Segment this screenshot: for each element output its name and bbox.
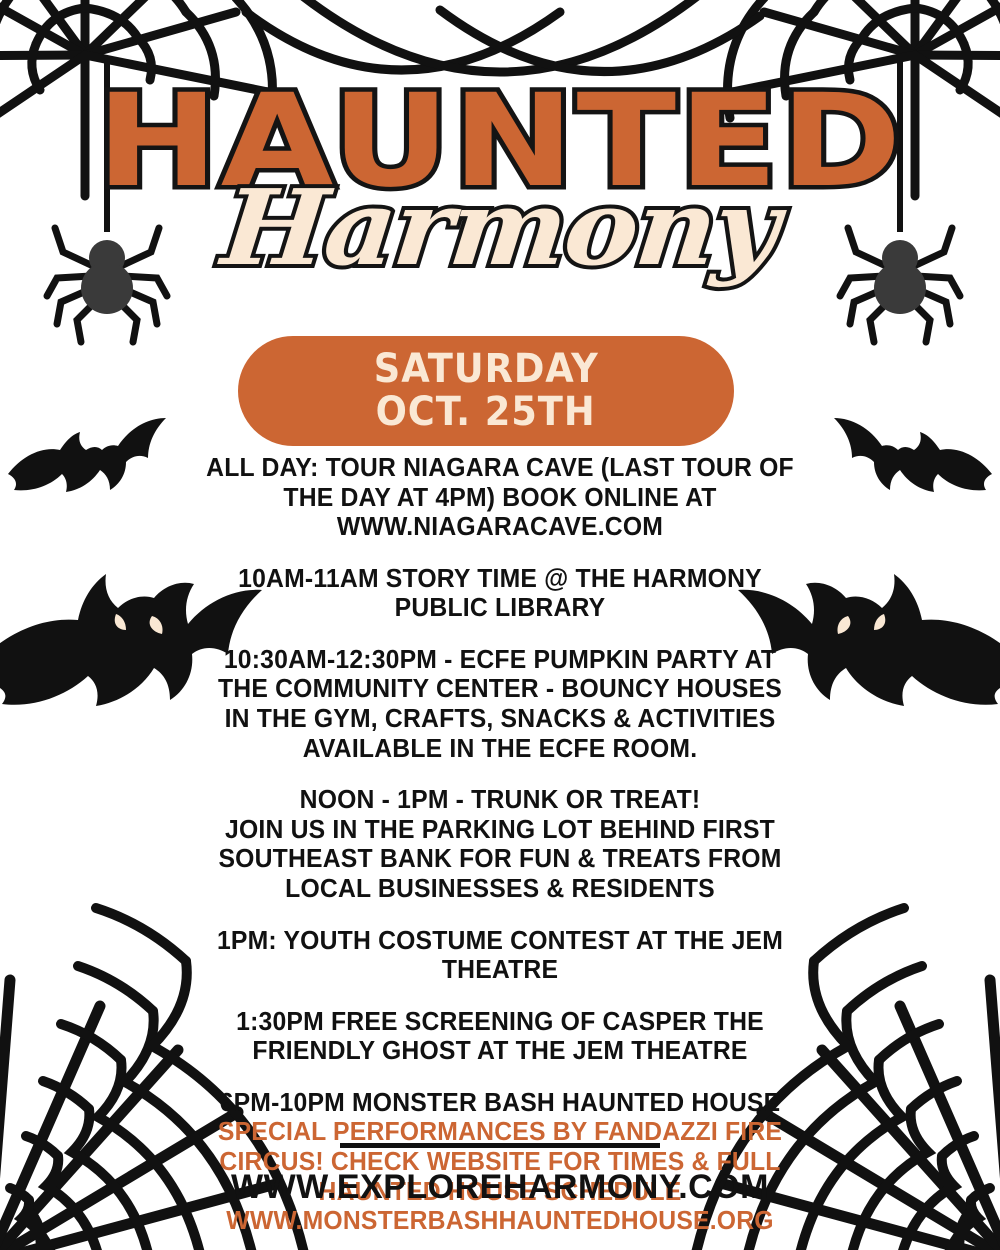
date-badge: SATURDAY OCT. 25TH: [238, 336, 734, 446]
schedule-line: THE DAY AT 4PM) BOOK ONLINE AT: [122, 484, 879, 514]
schedule-list: ALL DAY: TOUR NIAGARA CAVE (LAST TOUR OF…: [110, 454, 890, 1250]
schedule-line: 1:30PM FREE SCREENING OF CASPER THE: [122, 1008, 879, 1038]
schedule-line: LOCAL BUSINESSES & RESIDENTS: [122, 875, 879, 905]
schedule-item-trunk-or-treat: NOON - 1PM - TRUNK OR TREAT!JOIN US IN T…: [110, 786, 890, 904]
schedule-line: AVAILABLE IN THE ECFE ROOM.: [122, 735, 879, 765]
schedule-line: 1PM: YOUTH COSTUME CONTEST AT THE JEM: [122, 927, 879, 957]
schedule-item-youth-costume-contest: 1PM: YOUTH COSTUME CONTEST AT THE JEMTHE…: [110, 927, 890, 986]
schedule-line: 10:30AM-12:30PM - ECFE PUMPKIN PARTY AT: [122, 646, 879, 676]
flyer-canvas: HAUNTED Harmony SATURDAY OCT. 25TH ALL D…: [0, 0, 1000, 1250]
schedule-line: THEATRE: [122, 956, 879, 986]
date-day: SATURDAY: [374, 348, 599, 391]
schedule-item-casper-screening: 1:30PM FREE SCREENING OF CASPER THEFRIEN…: [110, 1008, 890, 1067]
schedule-line: ALL DAY: TOUR NIAGARA CAVE (LAST TOUR OF: [122, 454, 879, 484]
schedule-line: JOIN US IN THE PARKING LOT BEHIND FIRST: [122, 816, 879, 846]
flyer-title: HAUNTED Harmony: [0, 86, 1000, 274]
schedule-item-ecfe-pumpkin-party: 10:30AM-12:30PM - ECFE PUMPKIN PARTY ATT…: [110, 646, 890, 764]
schedule-line-highlight: WWW.MONSTERBASHHAUNTEDHOUSE.ORG: [122, 1207, 879, 1237]
schedule-line: 10AM-11AM STORY TIME @ THE HARMONY: [122, 565, 879, 595]
footer-divider: [340, 1143, 660, 1148]
date-date: OCT. 25TH: [376, 391, 596, 434]
schedule-line: FRIENDLY GHOST AT THE JEM THEATRE: [122, 1037, 879, 1067]
schedule-line: IN THE GYM, CRAFTS, SNACKS & ACTIVITIES: [122, 705, 879, 735]
schedule-line: NOON - 1PM - TRUNK OR TREAT!: [122, 786, 879, 816]
schedule-item-story-time: 10AM-11AM STORY TIME @ THE HARMONYPUBLIC…: [110, 565, 890, 624]
schedule-line: 6PM-10PM MONSTER BASH HAUNTED HOUSE: [122, 1089, 879, 1119]
footer-website: WWW.EXPLOREHARMONY.COM: [0, 1168, 1000, 1207]
schedule-line: PUBLIC LIBRARY: [122, 594, 879, 624]
schedule-line: SOUTHEAST BANK FOR FUN & TREATS FROM: [122, 845, 879, 875]
schedule-item-niagara-cave: ALL DAY: TOUR NIAGARA CAVE (LAST TOUR OF…: [110, 454, 890, 543]
title-harmony: Harmony: [0, 181, 1000, 275]
schedule-item-monster-bash: 6PM-10PM MONSTER BASH HAUNTED HOUSESPECI…: [110, 1089, 890, 1237]
schedule-line: WWW.NIAGARACAVE.COM: [122, 513, 879, 543]
schedule-line: THE COMMUNITY CENTER - BOUNCY HOUSES: [122, 675, 879, 705]
